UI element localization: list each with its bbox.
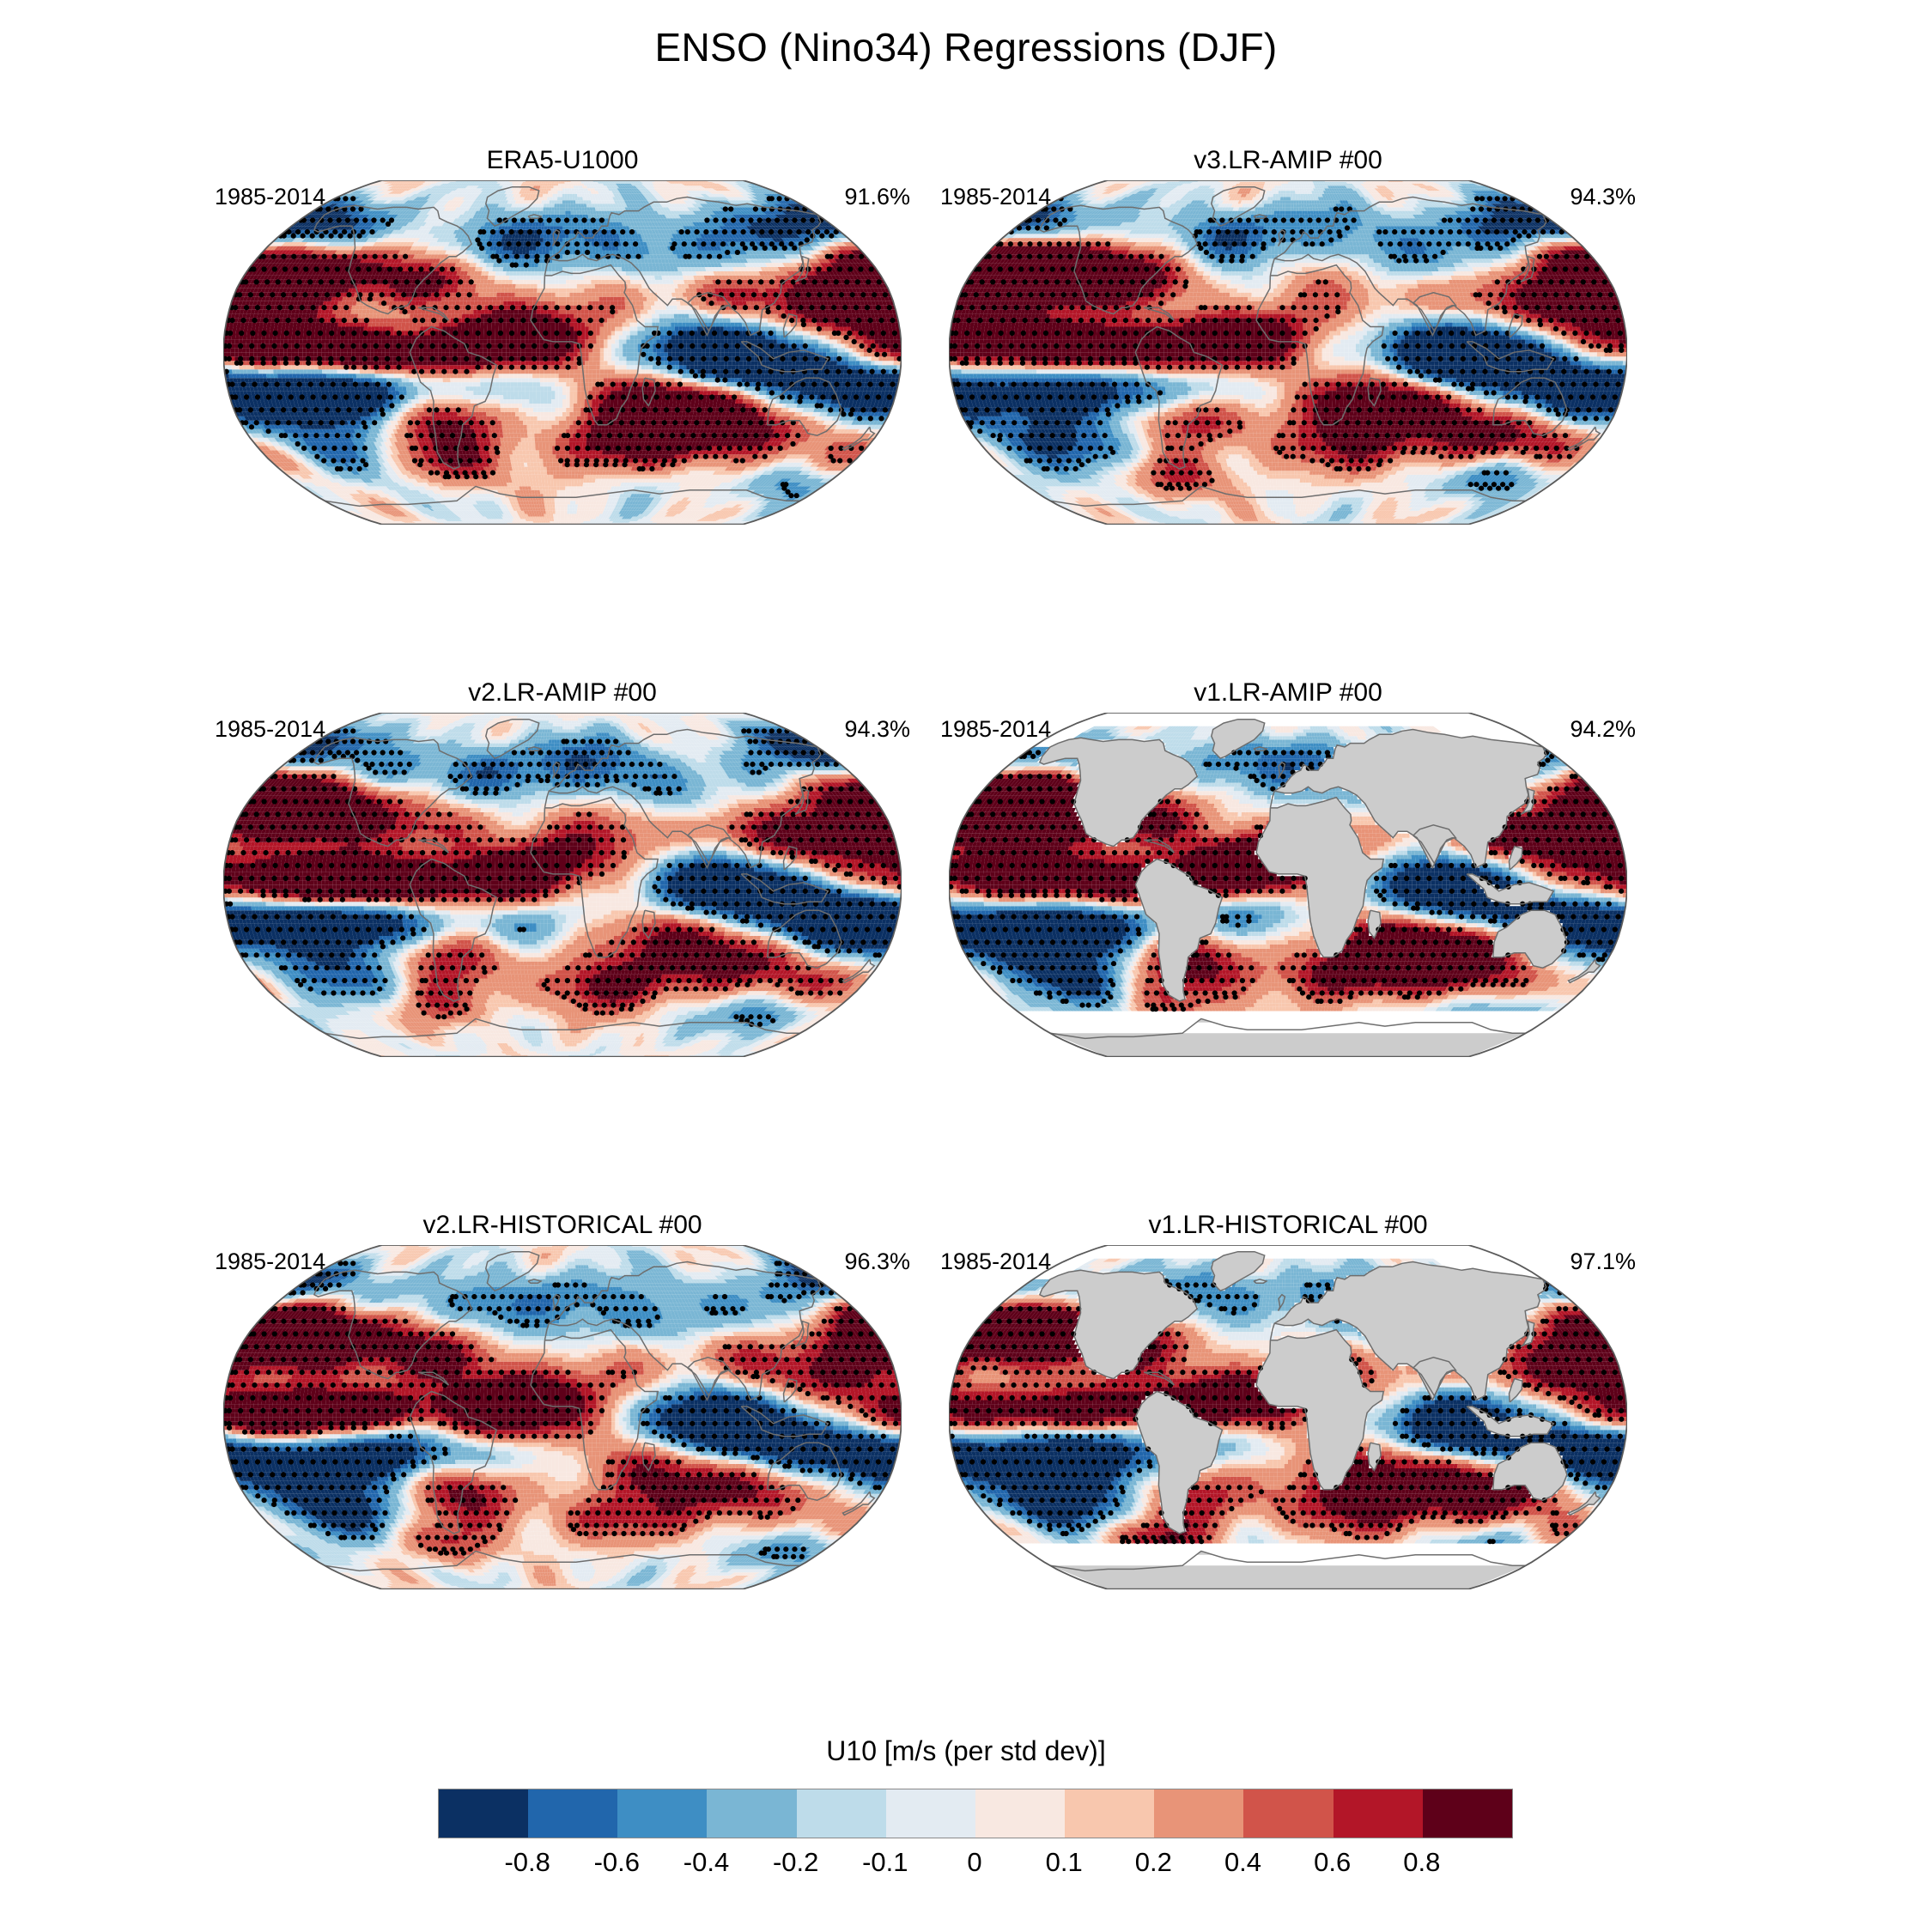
colorbar-bin-8 [1154,1789,1243,1838]
colorbar-bin-1 [528,1789,617,1838]
colorbar-bin-9 [1243,1789,1333,1838]
colorbar-tick-10: 0.8 [1403,1847,1440,1878]
map-v1-lr-amip[interactable] [949,713,1627,1057]
panel-title-v3-lr-amip: v3.LR-AMIP #00 [940,146,1636,175]
colorbar-bin-5 [886,1789,975,1838]
colorbar-bin-3 [707,1789,796,1838]
map-v1-lr-historical[interactable] [949,1245,1627,1589]
panel-v1-lr-amip: v1.LR-AMIP #001985-201494.2% [940,678,1636,1194]
map-era5-u1000[interactable] [223,180,902,525]
colorbar-tick-2: -0.4 [683,1847,729,1878]
panel-title-v1-lr-historical: v1.LR-HISTORICAL #00 [940,1211,1636,1240]
panel-title-v2-lr-amip: v2.LR-AMIP #00 [215,678,910,708]
figure-canvas: ENSO (Nino34) Regressions (DJF) ERA5-U10… [0,0,1932,1932]
colorbar-title: U10 [m/s (per std dev)] [0,1735,1932,1767]
colorbar-bin-11 [1423,1789,1512,1838]
map-v2-lr-amip[interactable] [223,713,902,1057]
colorbar-tick-3: -0.2 [773,1847,818,1878]
colorbar-tick-labels: -0.8-0.6-0.4-0.2-0.100.10.20.40.60.8 [438,1847,1511,1890]
colorbar-tick-7: 0.2 [1135,1847,1172,1878]
colorbar-bin-4 [797,1789,886,1838]
panel-title-era5-u1000: ERA5-U1000 [215,146,910,175]
map-v3-lr-amip[interactable] [949,180,1627,525]
colorbar-bin-2 [617,1789,707,1838]
colorbar-bin-7 [1065,1789,1154,1838]
colorbar-tick-4: -0.1 [862,1847,908,1878]
panel-v2-lr-historical: v2.LR-HISTORICAL #001985-201496.3% [215,1211,910,1726]
colorbar-tick-5: 0 [967,1847,981,1878]
colorbar-bin-0 [439,1789,528,1838]
colorbar-tick-6: 0.1 [1046,1847,1083,1878]
panel-era5-u1000: ERA5-U10001985-201491.6% [215,146,910,661]
panel-title-v2-lr-historical: v2.LR-HISTORICAL #00 [215,1211,910,1240]
panel-v1-lr-historical: v1.LR-HISTORICAL #001985-201497.1% [940,1211,1636,1726]
map-v2-lr-historical[interactable] [223,1245,902,1589]
figure-title: ENSO (Nino34) Regressions (DJF) [0,24,1932,70]
colorbar-bin-10 [1334,1789,1423,1838]
colorbar-tick-9: 0.6 [1314,1847,1351,1878]
colorbar-tick-1: -0.6 [594,1847,640,1878]
colorbar-tick-8: 0.4 [1224,1847,1261,1878]
panel-v2-lr-amip: v2.LR-AMIP #001985-201494.3% [215,678,910,1194]
panel-v3-lr-amip: v3.LR-AMIP #001985-201494.3% [940,146,1636,661]
colorbar[interactable] [438,1789,1513,1838]
colorbar-bin-6 [975,1789,1065,1838]
colorbar-tick-0: -0.8 [504,1847,550,1878]
panel-title-v1-lr-amip: v1.LR-AMIP #00 [940,678,1636,708]
